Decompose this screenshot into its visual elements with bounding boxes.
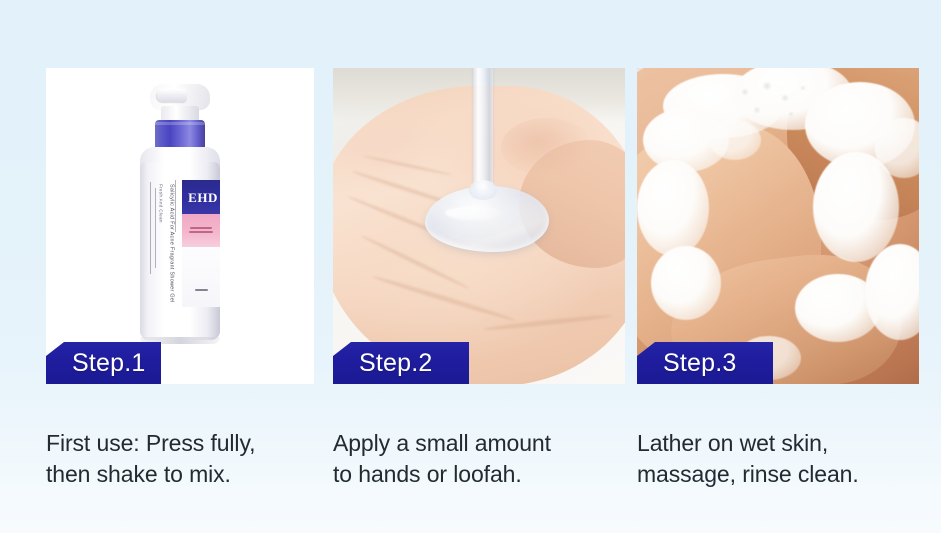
foam-patch <box>651 246 721 320</box>
step-2-caption: Apply a small amount to hands or loofah. <box>333 428 625 490</box>
foam-patch <box>637 160 709 256</box>
brand-name: EHD <box>188 191 218 204</box>
caption-line: First use: Press fully, <box>46 428 314 459</box>
steps-row: Salicylic Acid For Acne Fragrant Shower … <box>0 0 941 533</box>
gel-highlight <box>445 206 503 220</box>
step-badge-2: Step.2 <box>333 342 469 384</box>
knuckles <box>501 118 593 176</box>
step-badge-label: Step.1 <box>72 351 145 376</box>
usage-steps-infographic: Salicylic Acid For Acne Fragrant Shower … <box>0 0 941 533</box>
bottle-vertical-text-main: Salicylic Acid For Acne Fragrant Shower … <box>168 184 173 304</box>
foam-bubbles <box>733 78 829 128</box>
caption-line: to hands or loofah. <box>333 459 625 490</box>
pink-label-text-line <box>189 231 213 233</box>
pink-label-panel <box>182 214 220 247</box>
step-1-media: Salicylic Acid For Acne Fragrant Shower … <box>46 68 314 384</box>
caption-line: then shake to mix. <box>46 459 314 490</box>
lower-label-panel <box>182 247 220 307</box>
glass-rod-tip <box>469 180 497 200</box>
gel-in-palm-photo <box>333 68 625 384</box>
step-3-media: Step.3 <box>637 68 919 384</box>
step-badge-3: Step.3 <box>637 342 773 384</box>
product-bottle-image: Salicylic Acid For Acne Fragrant Shower … <box>128 84 232 346</box>
step-card-3: Step.3 Lather on wet skin, massage, rins… <box>637 68 919 490</box>
brand-label-panel: EHD <box>182 180 220 214</box>
pump-nozzle-icon <box>157 89 187 102</box>
caption-line: Apply a small amount <box>333 428 625 459</box>
step-1-caption: First use: Press fully, then shake to mi… <box>46 428 314 490</box>
caption-line: Lather on wet skin, <box>637 428 919 459</box>
pink-label-text-line <box>190 227 212 229</box>
bottle-vertical-text-sub: Fresh And Clean <box>158 184 163 304</box>
step-3-caption: Lather on wet skin, massage, rinse clean… <box>637 428 919 490</box>
step-2-media: Step.2 <box>333 68 625 384</box>
label-rule <box>150 182 151 274</box>
lower-label-text-line <box>195 289 208 291</box>
caption-line: massage, rinse clean. <box>637 459 919 490</box>
label-rule <box>155 188 156 268</box>
step-card-2: Step.2 Apply a small amount to hands or … <box>333 68 625 490</box>
glass-dispenser-rod <box>473 68 493 190</box>
step-badge-label: Step.3 <box>663 351 736 376</box>
step-card-1: Salicylic Acid For Acne Fragrant Shower … <box>46 68 314 490</box>
lather-on-skin-photo <box>637 68 919 384</box>
step-badge-1: Step.1 <box>46 342 161 384</box>
step-badge-label: Step.2 <box>359 351 432 376</box>
label-rule <box>175 180 176 232</box>
